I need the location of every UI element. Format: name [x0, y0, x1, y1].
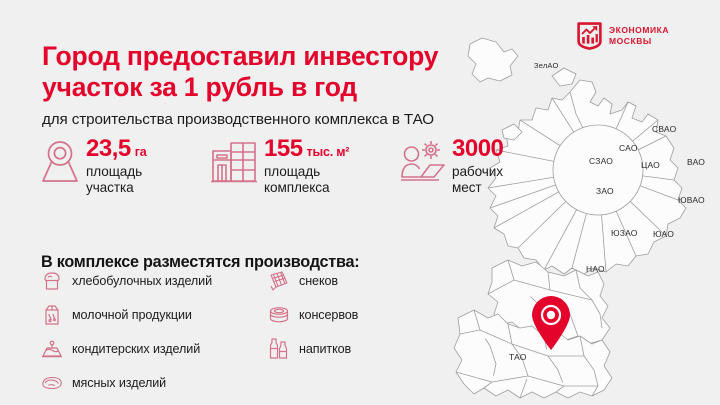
logo-line-1: ЭКОНОМИКА — [609, 25, 669, 35]
bottles-icon — [268, 337, 290, 361]
products-column-right: снеков консервов — [268, 268, 468, 395]
stat-plot-area-value-row: 23,5 га — [86, 137, 146, 161]
stat-complex-area-caption: площадь комплекса — [264, 164, 349, 196]
stat-jobs-body: 3000 рабочих мест — [452, 136, 507, 196]
logo-wordmark: ЭКОНОМИКА МОСКВЫ — [609, 25, 669, 47]
stat-plot-area-caption-1: площадь — [86, 164, 142, 179]
stat-jobs-caption-1: рабочих — [452, 164, 503, 179]
infographic-root: ЗелАО СВАО САО СЗАО ВАО ЦАО ЗАО ЮВАО ЮЗА… — [0, 0, 720, 405]
list-item: кондитерских изделий — [41, 336, 268, 361]
logo-line-2: МОСКВЫ — [609, 36, 652, 46]
stat-plot-area: 23,5 га площадь участка — [40, 136, 210, 196]
map-label-sao: САО — [619, 143, 638, 153]
list-item-label: мясных изделий — [72, 376, 166, 390]
location-pin-marker — [529, 295, 573, 351]
cake-slice-icon — [41, 337, 63, 361]
stat-complex-area-value-row: 155 тыс. м² — [264, 137, 349, 161]
map-label-szao: СЗАО — [589, 156, 613, 166]
list-item-label: напитков — [299, 342, 351, 356]
stat-plot-area-unit: га — [135, 145, 147, 159]
subheadline: для строительства производственного комп… — [42, 111, 562, 128]
list-item: снеков — [268, 268, 468, 293]
map-label-zao: ЗАО — [596, 186, 614, 196]
list-item-label: кондитерских изделий — [72, 342, 200, 356]
economy-of-moscow-logo: ЭКОНОМИКА МОСКВЫ — [577, 22, 669, 50]
stat-plot-area-caption-2: участка — [86, 180, 134, 195]
stat-complex-area-caption-1: площадь — [264, 164, 320, 179]
stat-complex-area-unit: тыс. м² — [307, 145, 350, 159]
stat-complex-area-body: 155 тыс. м² площадь комплекса — [264, 136, 349, 196]
stat-jobs: 3000 рабочих мест — [400, 136, 550, 196]
map-label-yuao: ЮАО — [653, 229, 674, 239]
list-item: мясных изделий — [41, 370, 268, 395]
stat-jobs-value-row: 3000 — [452, 137, 507, 161]
map-label-svao: СВАО — [652, 124, 676, 134]
products-columns: хлебобулочных изделий — [41, 268, 468, 395]
tin-can-icon — [268, 303, 290, 327]
list-item: хлебобулочных изделий — [41, 268, 268, 293]
stat-jobs-caption-2: мест — [452, 180, 482, 195]
map-label-vao: ВАО — [687, 157, 705, 167]
chart-shield-icon — [577, 22, 602, 50]
stat-plot-area-body: 23,5 га площадь участка — [86, 136, 146, 196]
list-item-label: молочной продукции — [72, 308, 192, 322]
factory-building-icon — [210, 139, 258, 190]
list-item: молочной продукции — [41, 302, 268, 327]
list-item: напитков — [268, 336, 468, 361]
stats-row: 23,5 га площадь участка — [40, 136, 550, 196]
list-item-label: консервов — [299, 308, 358, 322]
list-item: консервов — [268, 302, 468, 327]
map-label-zelao: ЗелАО — [534, 61, 559, 70]
stat-complex-area-caption-2: комплекса — [264, 180, 329, 195]
worker-gear-icon — [400, 139, 446, 190]
headline: Город предоставил инвестору участок за 1… — [42, 41, 512, 104]
map-label-yuvao: ЮВАО — [678, 195, 705, 205]
map-label-tao: ТАО — [509, 352, 527, 362]
milk-carton-icon — [41, 303, 63, 327]
stat-plot-area-number: 23,5 — [86, 137, 131, 161]
list-item-label: снеков — [299, 274, 338, 288]
waffle-snack-icon — [268, 269, 290, 293]
stat-jobs-caption: рабочих мест — [452, 164, 507, 196]
list-item-label: хлебобулочных изделий — [72, 274, 212, 288]
map-label-nao: НАО — [586, 264, 605, 274]
stat-plot-area-caption: площадь участка — [86, 164, 146, 196]
products-column-left: хлебобулочных изделий — [41, 268, 268, 395]
map-pin-area-icon — [40, 139, 80, 190]
map-label-cao: ЦАО — [641, 160, 660, 170]
stat-jobs-number: 3000 — [452, 137, 503, 161]
meat-steak-icon — [41, 371, 63, 395]
map-label-yuzao: ЮЗАО — [611, 228, 638, 238]
stat-complex-area: 155 тыс. м² площадь комплекса — [210, 136, 400, 196]
bread-icon — [41, 269, 63, 293]
stat-complex-area-number: 155 — [264, 137, 303, 161]
